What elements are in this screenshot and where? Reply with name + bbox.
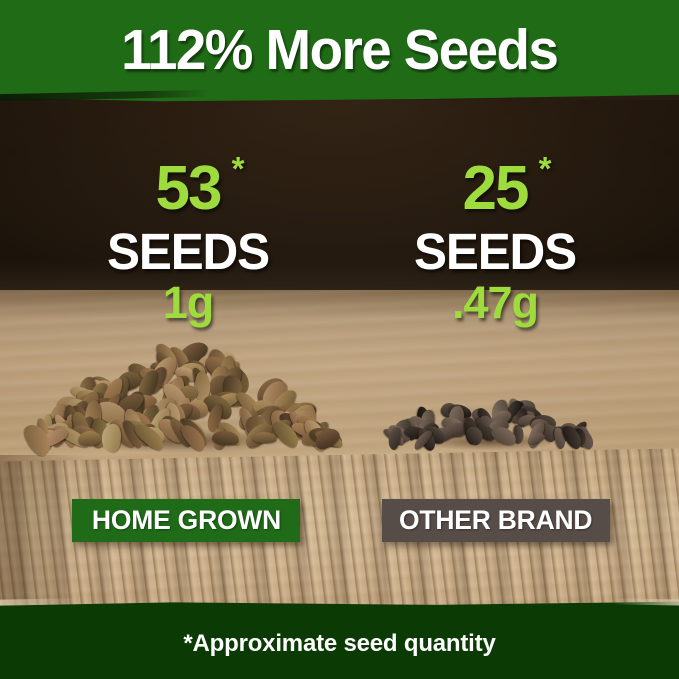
seed-weight-home-grown: 1g [38, 280, 338, 325]
stat-block-other-brand: 25 * SEEDS .47g [345, 158, 645, 325]
badge-label: OTHER BRAND [399, 507, 592, 534]
stat-block-home-grown: 53 * SEEDS 1g [38, 158, 338, 325]
seed-count-other-brand: 25 * [463, 158, 528, 220]
footnote-asterisk: * [232, 152, 243, 185]
seed-comparison-infographic: 112% More Seeds 53 * SEEDS 1g 25 * SEEDS… [0, 0, 679, 679]
wood-table-photo-background [0, 0, 679, 679]
seed-unit-label: SEEDS [350, 226, 641, 277]
seed-weight-other-brand: .47g [345, 280, 645, 325]
header-banner: 112% More Seeds [0, 0, 679, 104]
footnote-text: *Approximate seed quantity [183, 632, 495, 656]
badge-label: HOME GROWN [91, 507, 280, 534]
page-title: 112% More Seeds [121, 22, 557, 79]
footnote-asterisk: * [539, 152, 550, 185]
seed-unit-label: SEEDS [43, 226, 334, 277]
seed-count-value: 25 [463, 154, 528, 223]
seed-count-value: 53 [156, 154, 221, 223]
seed-count-home-grown: 53 * [156, 158, 221, 220]
badge-other-brand: OTHER BRAND [382, 499, 610, 542]
badge-home-grown: HOME GROWN [72, 499, 300, 542]
footer-banner: *Approximate seed quantity [0, 599, 679, 679]
